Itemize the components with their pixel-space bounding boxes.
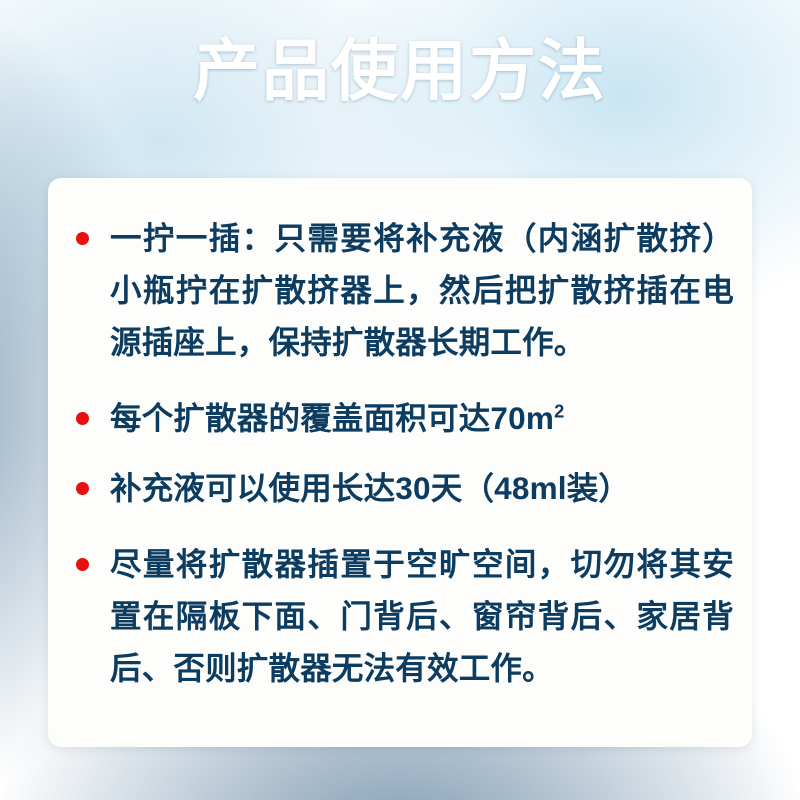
page-title: 产品使用方法 bbox=[0, 34, 800, 109]
product-usage-poster: 产品使用方法 一拧一插：只需要将补充液（内涵扩散挤）小瓶拧在扩散挤器上，然后把扩… bbox=[0, 0, 800, 800]
bullet-dot-icon bbox=[76, 558, 89, 571]
instruction-text-twist-and-plug: 一拧一插：只需要将补充液（内涵扩散挤）小瓶拧在扩散挤器上，然后把扩散挤插在电源插… bbox=[110, 212, 734, 368]
instruction-list: 一拧一插：只需要将补充液（内涵扩散挤）小瓶拧在扩散挤器上，然后把扩散挤插在电源插… bbox=[68, 212, 734, 694]
coverage-area-base-text: 每个扩散器的覆盖面积可达70m bbox=[110, 400, 554, 436]
bullet-dot-icon bbox=[76, 412, 89, 425]
instruction-text-refill-duration: 补充液可以使用长达30天（48ml装） bbox=[110, 462, 734, 514]
instructions-card: 一拧一插：只需要将补充液（内涵扩散挤）小瓶拧在扩散挤器上，然后把扩散挤插在电源插… bbox=[48, 178, 752, 747]
list-item: 尽量将扩散器插置于空旷空间，切勿将其安置在隔板下面、门背后、窗帘背后、家居背后、… bbox=[68, 538, 734, 694]
bullet-dot-icon bbox=[76, 482, 89, 495]
instruction-text-coverage-area: 每个扩散器的覆盖面积可达70m2 bbox=[110, 392, 734, 444]
list-item: 每个扩散器的覆盖面积可达70m2 bbox=[68, 392, 734, 444]
list-item: 补充液可以使用长达30天（48ml装） bbox=[68, 462, 734, 514]
bullet-dot-icon bbox=[76, 232, 89, 245]
square-meter-exponent: 2 bbox=[554, 401, 564, 422]
list-item: 一拧一插：只需要将补充液（内涵扩散挤）小瓶拧在扩散挤器上，然后把扩散挤插在电源插… bbox=[68, 212, 734, 368]
instruction-text-placement-warning: 尽量将扩散器插置于空旷空间，切勿将其安置在隔板下面、门背后、窗帘背后、家居背后、… bbox=[110, 538, 734, 694]
